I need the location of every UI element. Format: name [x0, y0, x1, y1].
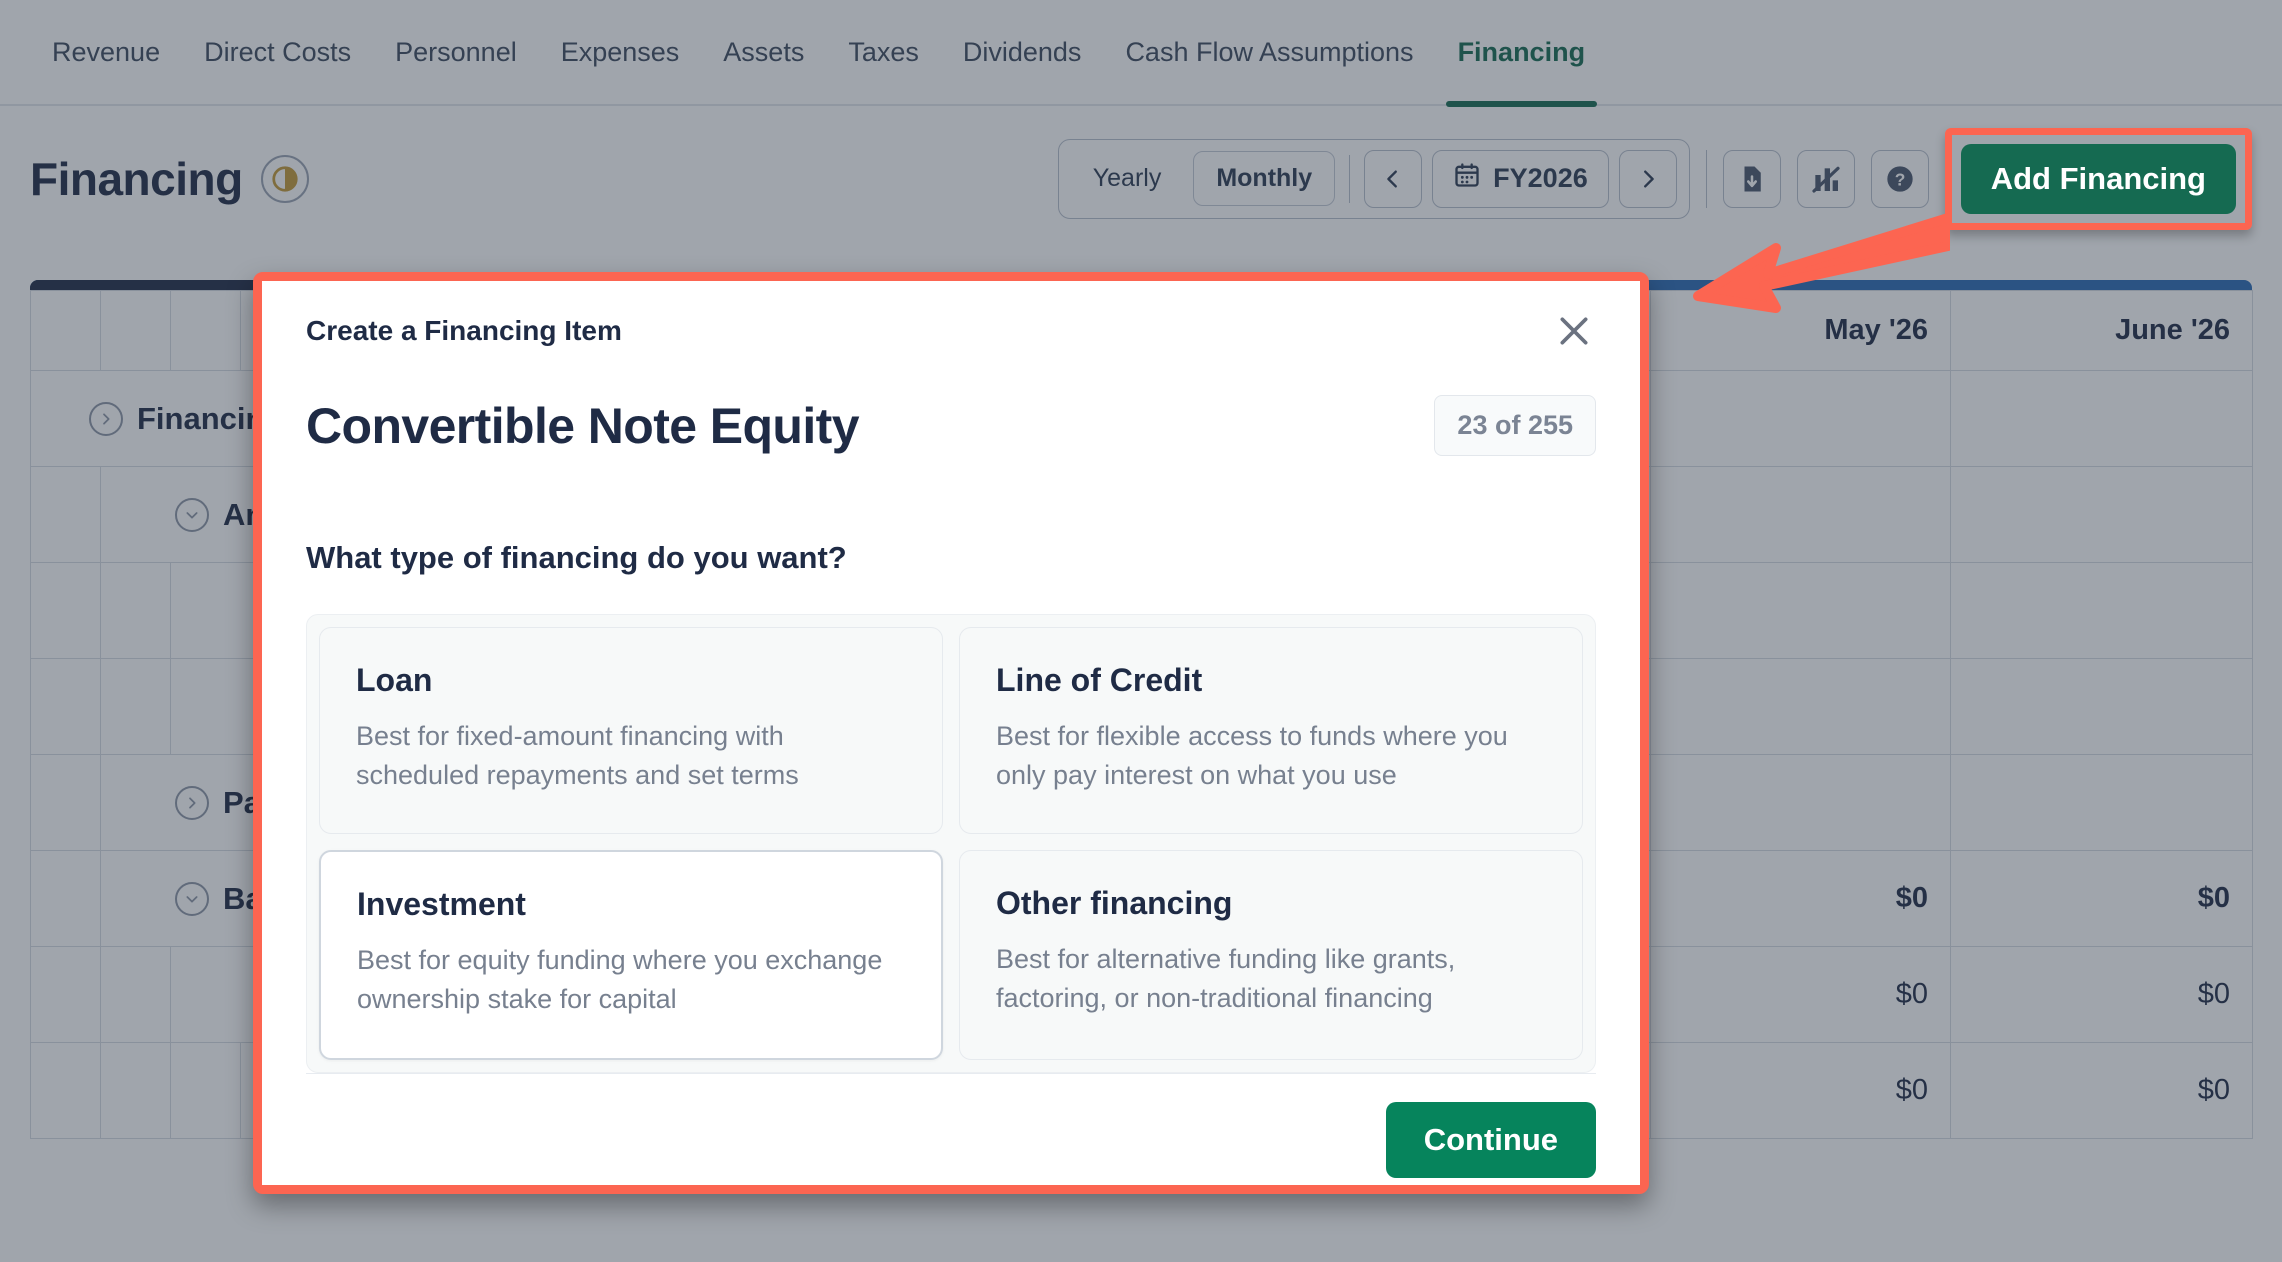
indent-cell [31, 1043, 101, 1139]
help-circle-icon[interactable]: ? [1871, 150, 1929, 208]
chart-hidden-icon[interactable] [1797, 150, 1855, 208]
option-title: Investment [357, 886, 905, 923]
cell-may-26 [1651, 755, 1951, 851]
tab-cash-flow-assumptions[interactable]: Cash Flow Assumptions [1103, 0, 1435, 105]
tab-taxes[interactable]: Taxes [826, 0, 941, 105]
option-description: Best for equity funding where you exchan… [357, 941, 905, 1019]
option-description: Best for fixed-amount financing with sch… [356, 717, 906, 795]
cell-may-26 [1651, 659, 1951, 755]
page-title-wrap: Financing [30, 152, 309, 206]
cell-may-26 [1651, 371, 1951, 467]
financing-type-options: Loan Best for fixed-amount financing wit… [306, 614, 1596, 1073]
tab-label: Expenses [561, 37, 680, 68]
modal-header: Create a Financing Item [306, 281, 1596, 353]
indent-cell [171, 1043, 241, 1139]
modal-eyebrow-title: Create a Financing Item [306, 315, 622, 347]
indent-col [171, 291, 241, 371]
file-download-icon[interactable] [1723, 150, 1781, 208]
indent-cell [101, 1043, 171, 1139]
financing-type-question: What type of financing do you want? [306, 540, 1596, 576]
cell-june-26 [1951, 467, 2253, 563]
cell-june-26 [1951, 755, 2253, 851]
indent-cell [31, 947, 101, 1043]
option-description: Best for flexible access to funds where … [996, 717, 1546, 795]
cell-june-26 [1951, 563, 2253, 659]
period-and-date-group: Yearly Monthly [1058, 139, 1690, 219]
toolbar-section-divider [1706, 150, 1707, 208]
add-financing-button[interactable]: Add Financing [1961, 144, 2236, 214]
next-period-button[interactable] [1619, 150, 1677, 208]
tab-label: Revenue [52, 37, 160, 68]
create-financing-modal: Create a Financing Item Convertible Note… [262, 281, 1640, 1185]
tab-label: Dividends [963, 37, 1082, 68]
tab-direct-costs[interactable]: Direct Costs [182, 0, 373, 105]
indent-cell [101, 659, 171, 755]
close-icon[interactable] [1552, 309, 1596, 353]
option-card-other-financing[interactable]: Other financing Best for alternative fun… [959, 850, 1583, 1059]
tab-expenses[interactable]: Expenses [539, 0, 702, 105]
tab-label: Assets [723, 37, 804, 68]
tab-label: Cash Flow Assumptions [1125, 37, 1413, 68]
period-yearly-button[interactable]: Yearly [1071, 152, 1184, 205]
svg-text:?: ? [1894, 169, 1905, 189]
cell-may-26: $0 [1651, 1043, 1951, 1139]
previous-period-button[interactable] [1364, 150, 1422, 208]
tab-label: Taxes [848, 37, 919, 68]
fiscal-year-label: FY2026 [1493, 163, 1588, 194]
cell-june-26 [1951, 659, 2253, 755]
calendar-icon [1453, 161, 1481, 196]
tab-label: Financing [1458, 37, 1586, 68]
cell-may-26 [1651, 467, 1951, 563]
cell-june-26 [1951, 371, 2253, 467]
option-title: Other financing [996, 885, 1546, 922]
option-card-line-of-credit[interactable]: Line of Credit Best for flexible access … [959, 627, 1583, 834]
tab-personnel[interactable]: Personnel [373, 0, 539, 105]
toolbar-divider [1349, 155, 1350, 203]
half-circle-coin-icon [261, 155, 309, 203]
indent-cell [31, 467, 101, 563]
chevron-down-circle-icon[interactable] [175, 498, 209, 532]
cell-may-26 [1651, 563, 1951, 659]
chevron-down-circle-icon[interactable] [175, 882, 209, 916]
tab-label: Personnel [395, 37, 517, 68]
cell-june-26: $0 [1951, 947, 2253, 1043]
page-title: Financing [30, 152, 243, 206]
option-title: Loan [356, 662, 906, 699]
cell-june-26: $0 [1951, 1043, 2253, 1139]
arrow-pointing-left-icon [1690, 212, 1950, 327]
indent-cell [31, 851, 101, 947]
add-financing-highlight-box: Add Financing [1945, 128, 2252, 230]
modal-title-row: Convertible Note Equity 23 of 255 [306, 395, 1596, 456]
tab-assets[interactable]: Assets [701, 0, 826, 105]
tab-revenue[interactable]: Revenue [30, 0, 182, 105]
cell-may-26: $0 [1651, 947, 1951, 1043]
option-description: Best for alternative funding like grants… [996, 940, 1546, 1018]
tab-dividends[interactable]: Dividends [941, 0, 1104, 105]
chevron-right-circle-icon[interactable] [175, 786, 209, 820]
character-count-badge: 23 of 255 [1434, 395, 1596, 456]
indent-cell [31, 563, 101, 659]
chevron-right-circle-icon[interactable] [89, 402, 123, 436]
tab-label: Direct Costs [204, 37, 351, 68]
indent-cell [31, 659, 101, 755]
indent-cell [101, 563, 171, 659]
tab-financing[interactable]: Financing [1436, 0, 1608, 105]
option-card-loan[interactable]: Loan Best for fixed-amount financing wit… [319, 627, 943, 834]
option-title: Line of Credit [996, 662, 1546, 699]
option-card-investment[interactable]: Investment Best for equity funding where… [319, 850, 943, 1059]
financing-item-name[interactable]: Convertible Note Equity [306, 397, 859, 455]
create-financing-modal-highlight: Create a Financing Item Convertible Note… [253, 272, 1649, 1194]
fiscal-year-selector[interactable]: FY2026 [1432, 150, 1609, 208]
cell-june-26: $0 [1951, 851, 2253, 947]
continue-button[interactable]: Continue [1386, 1102, 1596, 1178]
indent-col [101, 291, 171, 371]
indent-cell [31, 755, 101, 851]
cell-may-26: $0 [1651, 851, 1951, 947]
column-header-june-26[interactable]: June '26 [1951, 291, 2253, 371]
header-toolbar: Yearly Monthly [1058, 128, 2252, 230]
period-monthly-button[interactable]: Monthly [1193, 151, 1335, 206]
modal-footer: Continue [306, 1073, 1596, 1185]
primary-nav-tabs: Revenue Direct Costs Personnel Expenses … [0, 0, 2282, 106]
indent-cell [101, 947, 171, 1043]
indent-col [31, 291, 101, 371]
